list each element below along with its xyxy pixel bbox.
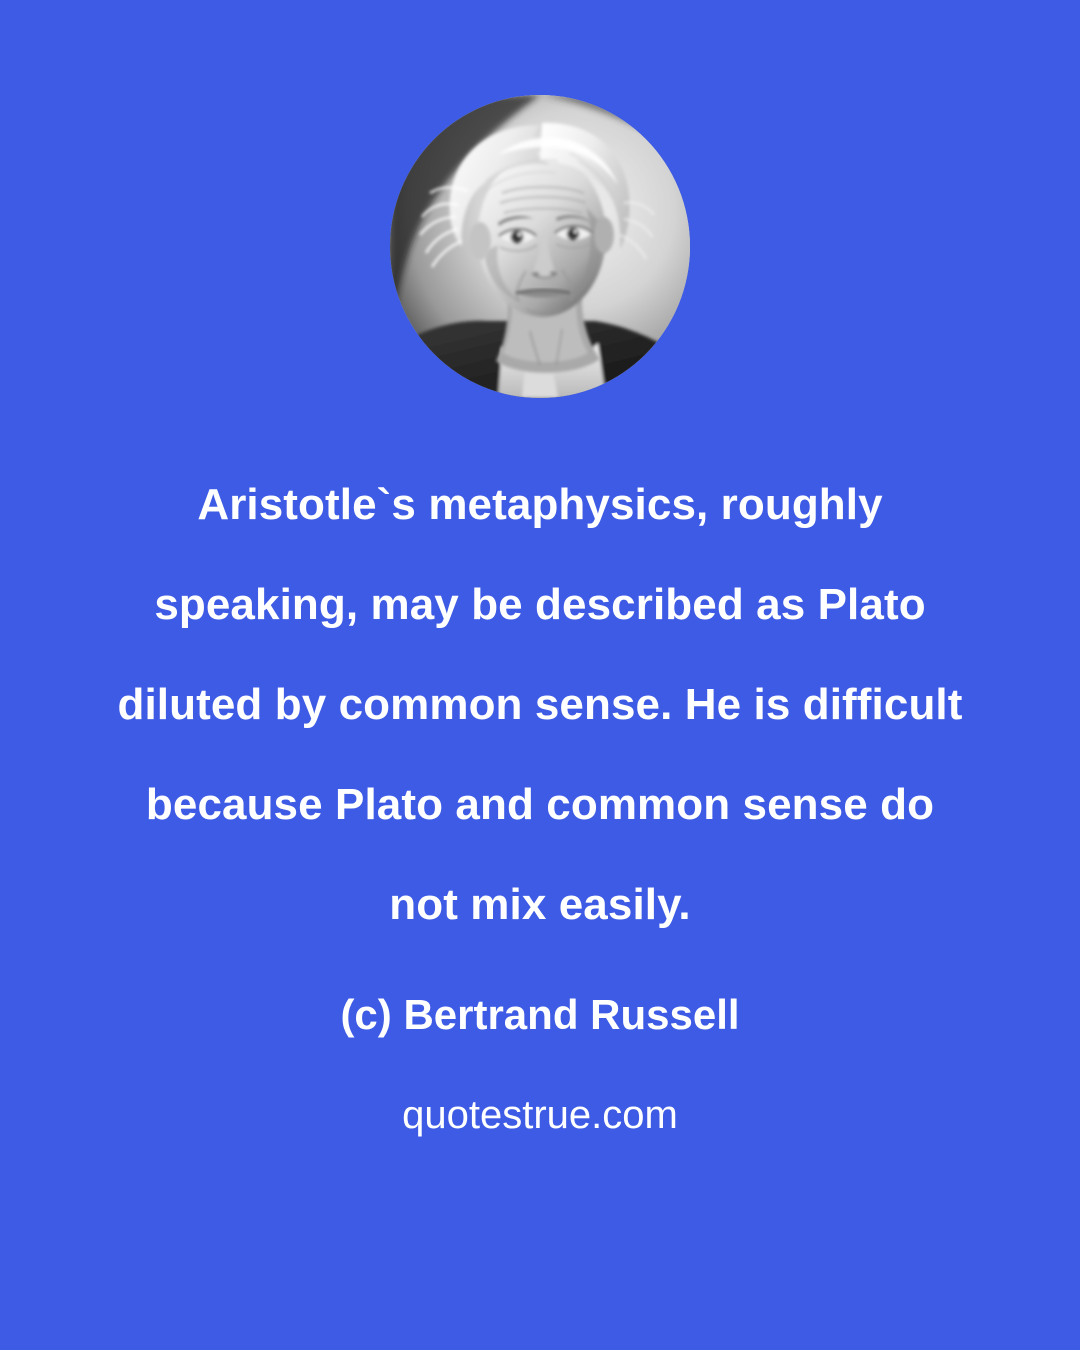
attribution-block: (c) Bertrand Russell quotestrue.com: [0, 965, 1080, 1165]
quote-line: not mix easily.: [0, 855, 1080, 955]
portrait-bertrand-russell-icon: [390, 95, 690, 398]
quote-line: diluted by common sense. He is difficult: [0, 655, 1080, 755]
quote-line: because Plato and common sense do: [0, 755, 1080, 855]
avatar: [390, 95, 690, 398]
quote-author: (c) Bertrand Russell: [0, 965, 1080, 1065]
quote-line: speaking, may be described as Plato: [0, 555, 1080, 655]
portrait-container: [390, 95, 690, 398]
quote-line: Aristotle`s metaphysics, roughly: [0, 455, 1080, 555]
quote-card: Aristotle`s metaphysics, roughly speakin…: [0, 0, 1080, 1350]
quote-text: Aristotle`s metaphysics, roughly speakin…: [0, 455, 1080, 955]
source-website[interactable]: quotestrue.com: [0, 1065, 1080, 1165]
